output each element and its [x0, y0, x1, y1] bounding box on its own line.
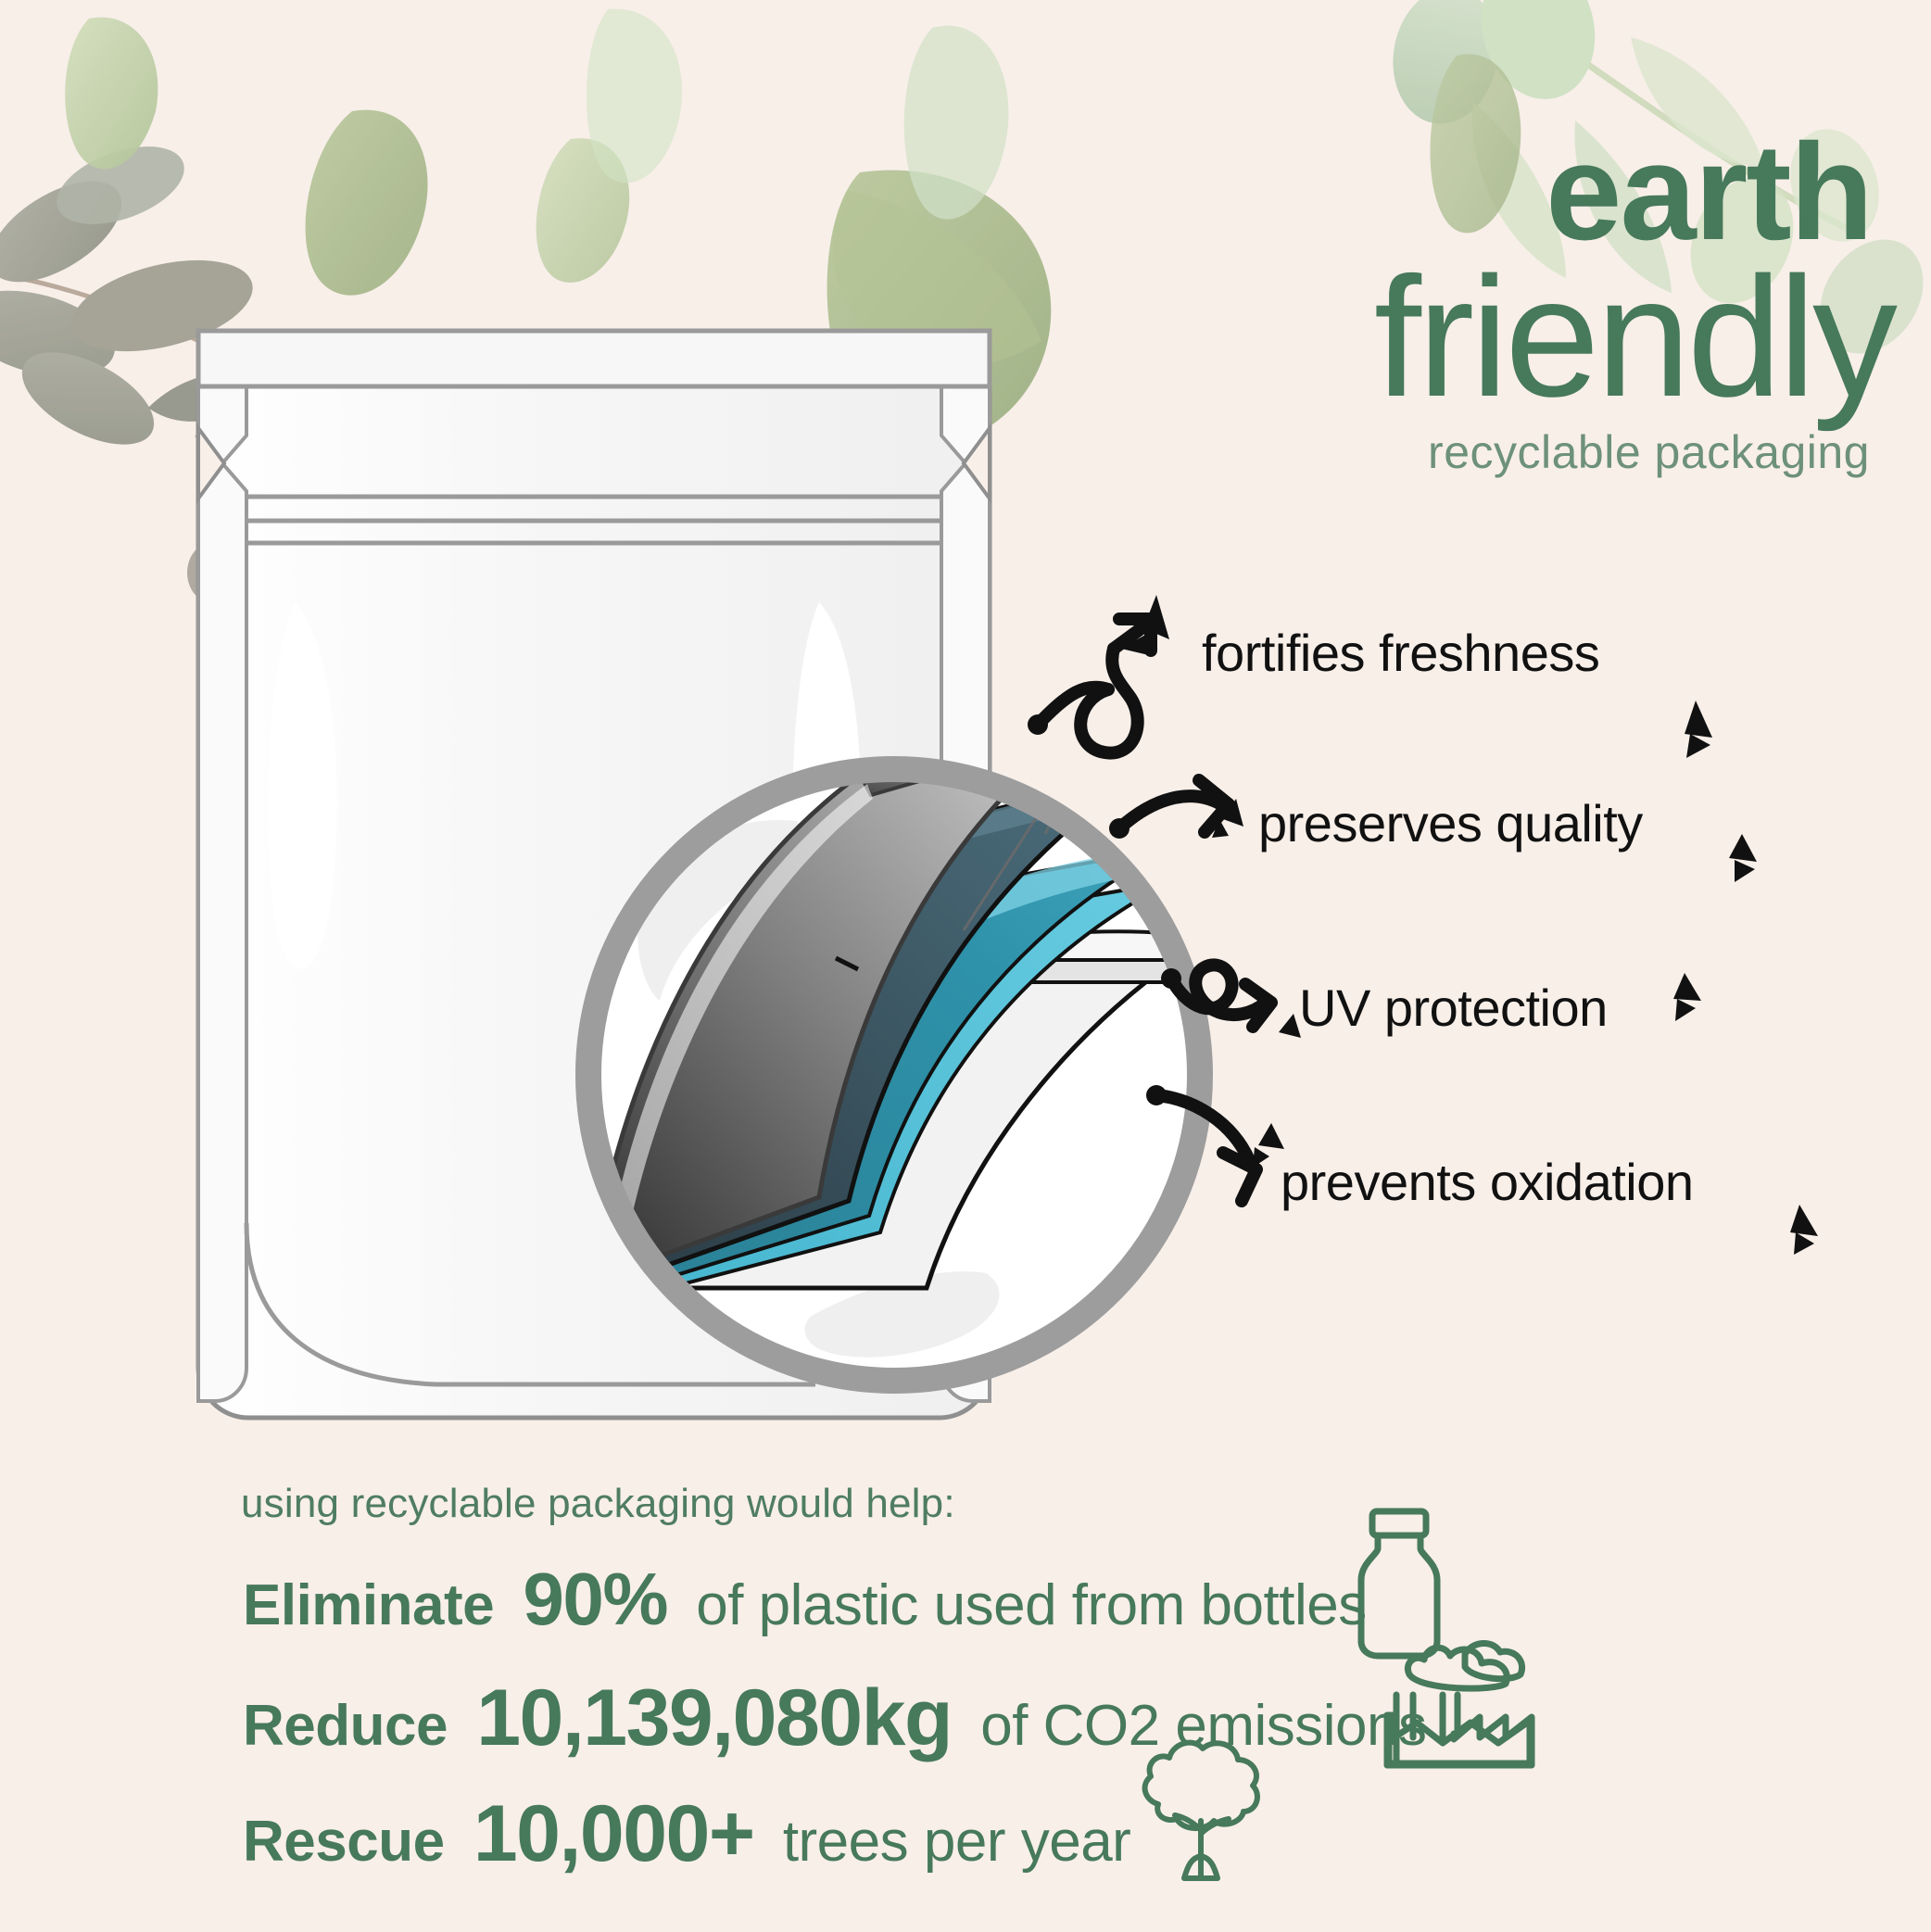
stat-tail: trees per year	[783, 1810, 1131, 1874]
title-line-friendly: friendly	[1138, 256, 1898, 418]
stats-intro-text: using recyclable packaging would help:	[241, 1481, 955, 1527]
stat-tail: of plastic used from bottles	[696, 1573, 1366, 1637]
curly-arrow-loop-icon	[1161, 965, 1271, 1027]
curly-arrow-loop-icon	[1028, 619, 1151, 753]
feature-label-uv-protection: UV protection	[1299, 978, 1608, 1038]
stat-number: 10,139,080kg	[476, 1673, 952, 1762]
stat-verb: Reduce	[243, 1694, 448, 1758]
feature-label-preserves-quality: preserves quality	[1258, 793, 1643, 853]
stat-verb: Eliminate	[243, 1573, 494, 1637]
page-title: earth friendly recyclable packaging	[1138, 130, 1898, 479]
infographic-canvas: earth friendly recyclable packaging fort…	[0, 0, 1931, 1932]
factory-icon	[1376, 1626, 1538, 1779]
page-subtitle: recyclable packaging	[1138, 425, 1898, 479]
stat-row: Eliminate 90% of plastic used from bottl…	[243, 1557, 1367, 1642]
tree-icon	[1112, 1719, 1288, 1895]
feature-label-prevents-oxidation: prevents oxidation	[1281, 1152, 1694, 1212]
stat-number: 10,000+	[473, 1789, 754, 1878]
title-line-earth: earth	[1138, 130, 1898, 256]
feature-label-fortifies-freshness: fortifies freshness	[1202, 623, 1599, 683]
curly-arrow-icon	[1109, 780, 1229, 839]
stat-number: 90%	[523, 1558, 667, 1640]
stat-row: Rescue 10,000+ trees per year	[243, 1788, 1130, 1880]
stat-verb: Rescue	[243, 1810, 445, 1874]
curly-arrow-icon	[1146, 1085, 1256, 1201]
